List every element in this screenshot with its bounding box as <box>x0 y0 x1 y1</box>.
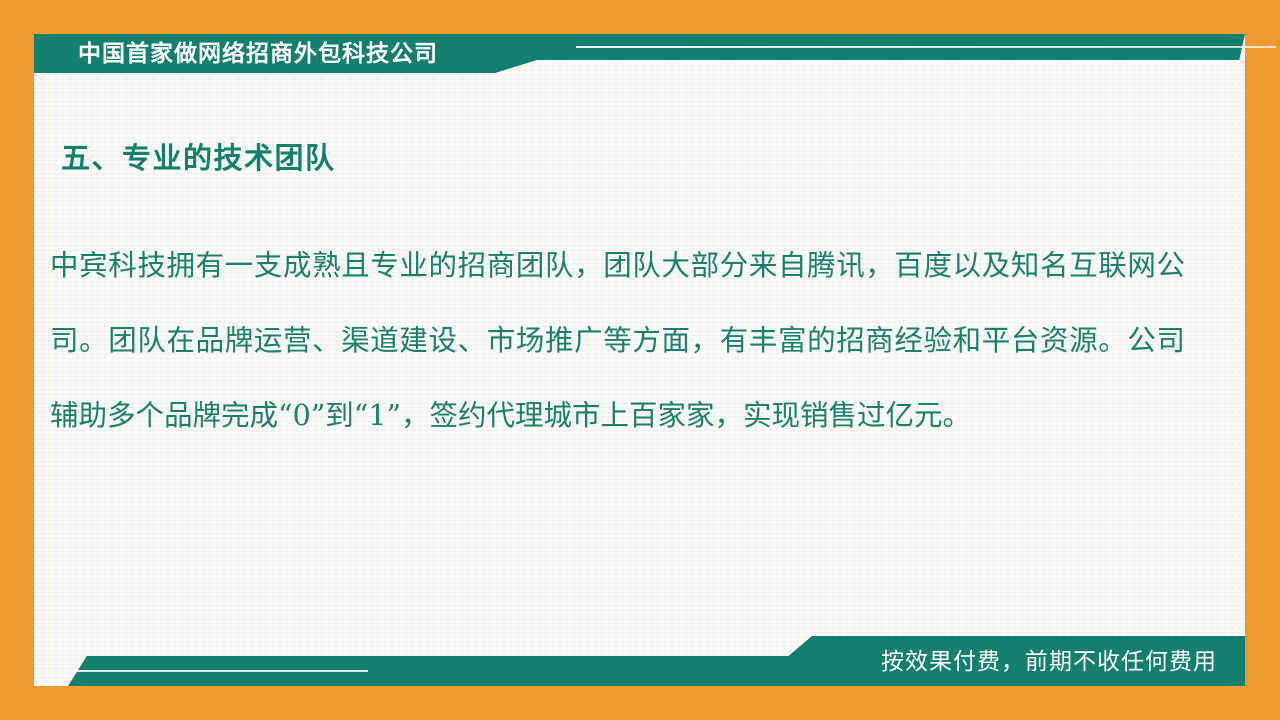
body-paragraph: 中宾科技拥有一支成熟且专业的招商团队，团队大部分来自腾讯，百度以及知名互联网公司… <box>50 228 1185 453</box>
page-title: 五、专业的技术团队 <box>61 135 336 177</box>
slide-root: 中国首家做网络招商外包科技公司 五、专业的技术团队 中宾科技拥有一支成熟且专业的… <box>0 0 1280 720</box>
